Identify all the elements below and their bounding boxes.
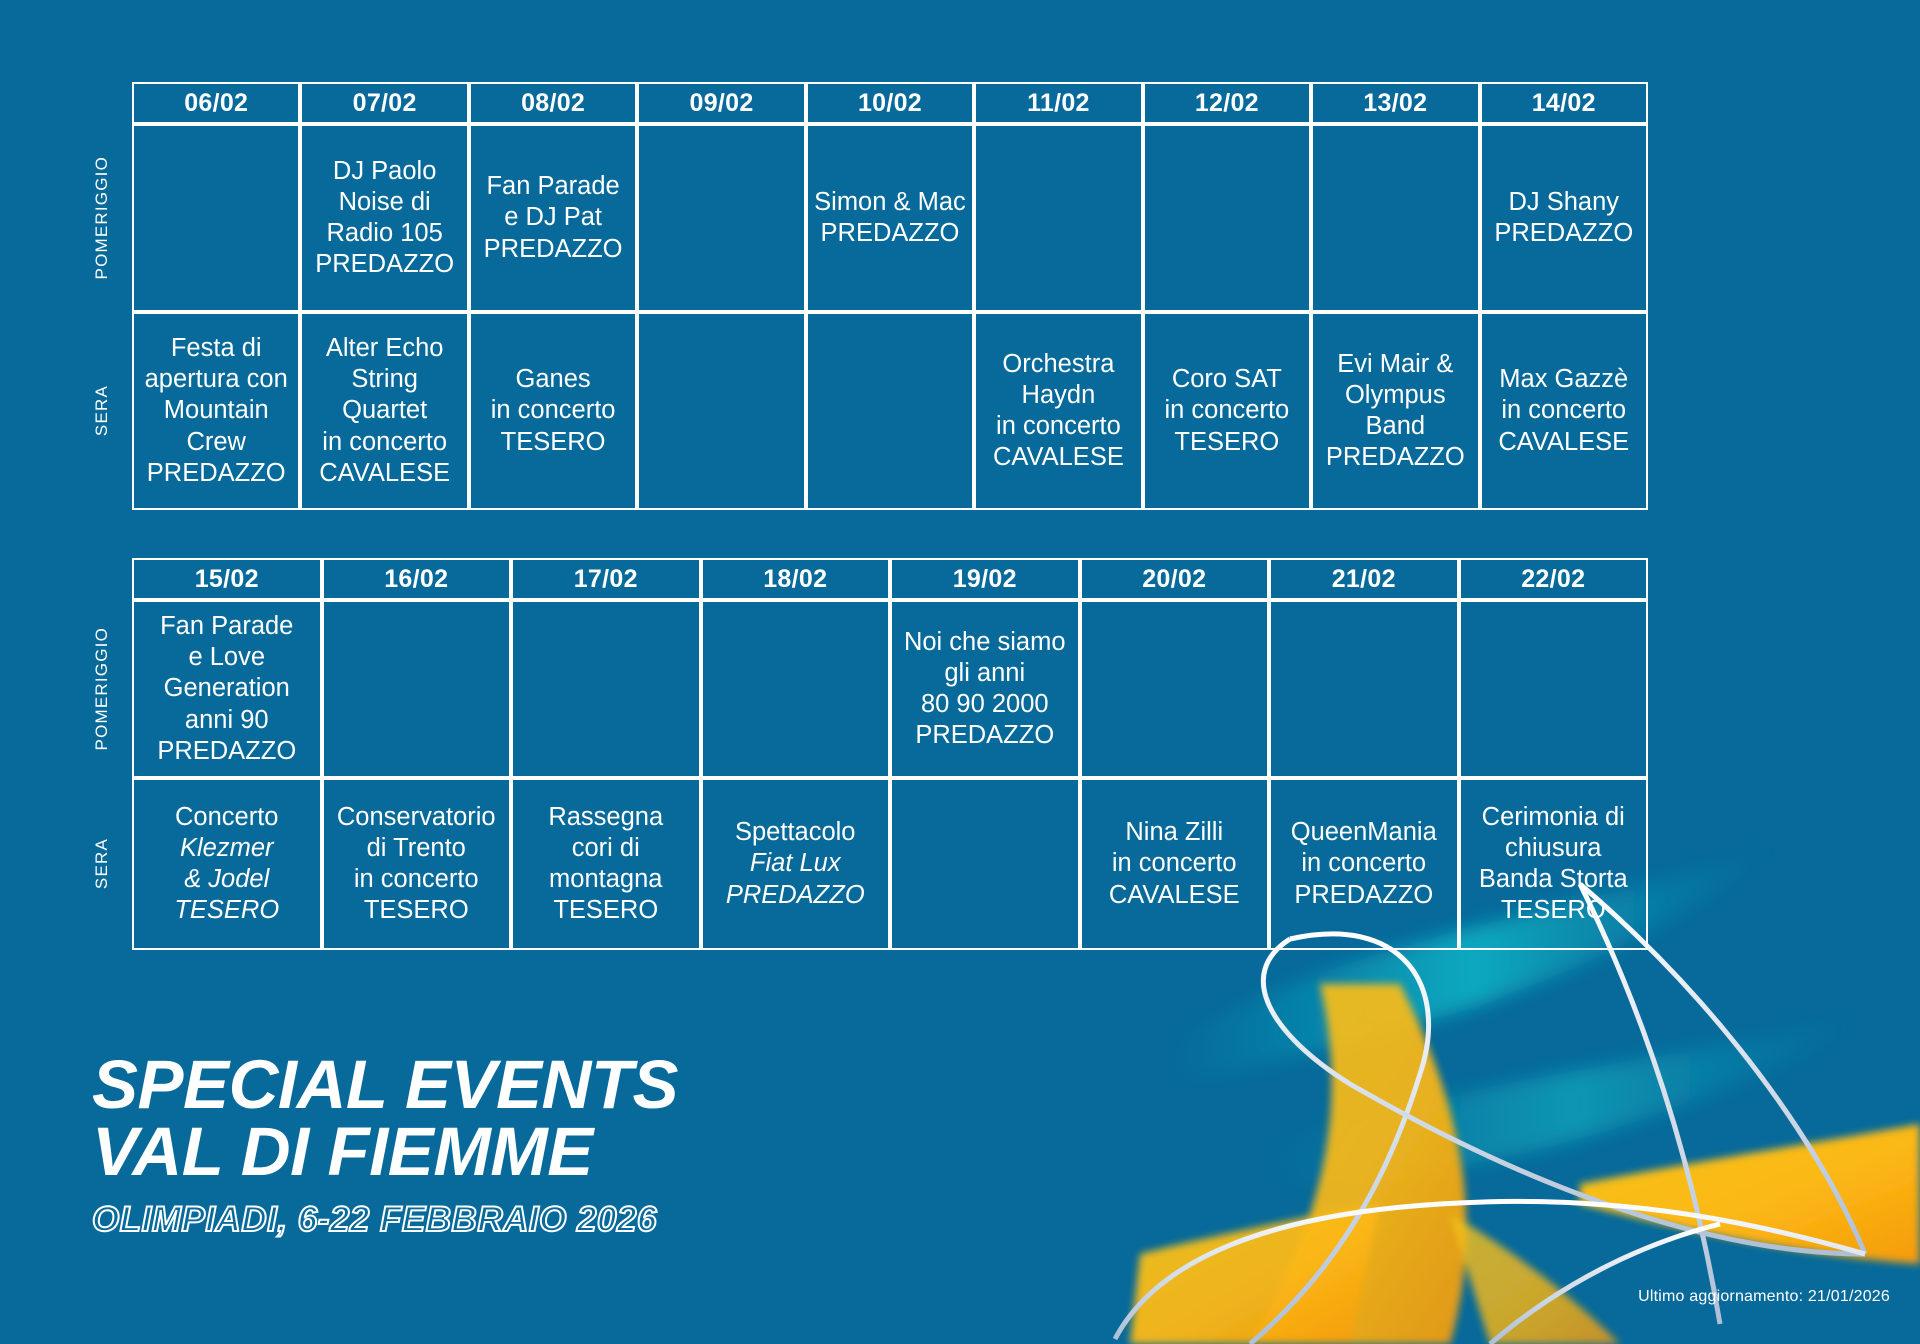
event-line: montagna xyxy=(519,864,693,895)
date-header: 09/02 xyxy=(637,82,805,124)
event-line: Fiat Lux xyxy=(709,848,883,879)
event-line: gli anni xyxy=(898,658,1072,689)
row-label-text: SERA xyxy=(92,838,113,889)
event-line: Mountain xyxy=(140,395,292,426)
event-line: Banda Storta xyxy=(1467,864,1641,895)
event-line: Fan Parade xyxy=(477,171,629,202)
event-line: in concerto xyxy=(1488,395,1641,426)
event-line: Conservatorio xyxy=(330,802,504,833)
event-line: Nina Zilli xyxy=(1088,817,1262,848)
date-header: 12/02 xyxy=(1143,82,1311,124)
title-block: SPECIAL EVENTS VAL DI FIEMME OLIMPIADI, … xyxy=(92,1052,678,1240)
event-line: Haydn xyxy=(982,380,1134,411)
event-line: Simon & Mac xyxy=(814,187,966,218)
event-line: PREDAZZO xyxy=(140,736,314,767)
row-label-pomeriggio: POMERIGGIO xyxy=(92,600,132,778)
table-body: POMERIGGIO Fan Paradee LoveGenerationann… xyxy=(92,600,1648,950)
event-cell[interactable]: DJ ShanyPREDAZZO xyxy=(1480,124,1649,312)
event-line: TESERO xyxy=(330,895,504,926)
event-line: Noise di xyxy=(308,187,460,218)
event-line: Generation xyxy=(140,673,314,704)
event-line: 80 90 2000 xyxy=(898,689,1072,720)
event-line: in concerto xyxy=(982,411,1134,442)
table-row: SERA ConcertoKlezmer& JodelTESERO Conser… xyxy=(92,778,1648,950)
event-line: PREDAZZO xyxy=(477,234,629,265)
row-label-text: POMERIGGIO xyxy=(92,627,113,750)
row-label-sera: SERA xyxy=(92,312,132,510)
event-line: Radio 105 xyxy=(308,218,460,249)
event-cell[interactable]: Max Gazzèin concertoCAVALESE xyxy=(1480,312,1649,510)
event-line: apertura con xyxy=(140,364,292,395)
event-cell[interactable]: Conservatoriodi Trentoin concertoTESERO xyxy=(322,778,512,950)
event-line: TESERO xyxy=(1151,427,1303,458)
event-line: TESERO xyxy=(1467,895,1641,926)
event-cell[interactable] xyxy=(1080,600,1270,778)
event-line: in concerto xyxy=(1277,848,1451,879)
date-header: 19/02 xyxy=(890,558,1080,600)
event-line: in concerto xyxy=(1088,848,1262,879)
event-line: QueenMania xyxy=(1277,817,1451,848)
event-line: Alter Echo xyxy=(308,333,460,364)
event-line: Crew xyxy=(140,427,292,458)
event-cell[interactable]: Festa diapertura conMountainCrewPREDAZZO xyxy=(132,312,300,510)
date-header-row: 06/02 07/02 08/02 09/02 10/02 11/02 12/0… xyxy=(92,82,1648,124)
poster-title-line2: VAL DI FIEMME xyxy=(92,1119,678,1186)
event-line: e DJ Pat xyxy=(477,202,629,233)
event-cell[interactable]: OrchestraHaydnin concertoCAVALESE xyxy=(974,312,1142,510)
event-cell[interactable]: ConcertoKlezmer& JodelTESERO xyxy=(132,778,322,950)
event-line: PREDAZZO xyxy=(1277,880,1451,911)
schedule-table: 15/02 16/02 17/02 18/02 19/02 20/02 21/0… xyxy=(92,558,1648,950)
event-line: Band xyxy=(1319,411,1471,442)
event-cell[interactable] xyxy=(701,600,891,778)
event-line: e Love xyxy=(140,642,314,673)
event-cell[interactable] xyxy=(637,312,805,510)
event-cell[interactable]: Fan Paradee LoveGenerationanni 90PREDAZZ… xyxy=(132,600,322,778)
corner-spacer xyxy=(92,558,132,600)
date-header: 20/02 xyxy=(1080,558,1270,600)
event-line: Concerto xyxy=(140,802,314,833)
table-row: POMERIGGIO DJ PaoloNoise diRadio 105PRED… xyxy=(92,124,1648,312)
event-cell[interactable] xyxy=(1311,124,1479,312)
poster-subtitle: OLIMPIADI, 6-22 FEBBRAIO 2026 xyxy=(92,1200,678,1240)
table-head: 15/02 16/02 17/02 18/02 19/02 20/02 21/0… xyxy=(92,558,1648,600)
row-label-text: POMERIGGIO xyxy=(92,156,113,279)
row-label-text: SERA xyxy=(92,385,113,436)
event-line: & Jodel xyxy=(140,864,314,895)
event-cell[interactable] xyxy=(1143,124,1311,312)
row-label-sera: SERA xyxy=(92,778,132,950)
event-line: di Trento xyxy=(330,833,504,864)
event-cell[interactable]: DJ PaoloNoise diRadio 105PREDAZZO xyxy=(300,124,468,312)
event-line: TESERO xyxy=(477,427,629,458)
event-cell[interactable]: Cerimonia dichiusuraBanda StortaTESERO xyxy=(1459,778,1649,950)
event-line: Evi Mair & xyxy=(1319,349,1471,380)
event-line: PREDAZZO xyxy=(308,249,460,280)
event-cell[interactable]: Ganesin concertoTESERO xyxy=(469,312,637,510)
event-line: Ganes xyxy=(477,364,629,395)
event-line: Orchestra xyxy=(982,349,1134,380)
event-line: chiusura xyxy=(1467,833,1641,864)
date-header-row: 15/02 16/02 17/02 18/02 19/02 20/02 21/0… xyxy=(92,558,1648,600)
event-cell[interactable] xyxy=(806,312,974,510)
poster-title-line1: SPECIAL EVENTS xyxy=(92,1052,678,1119)
event-line: CAVALESE xyxy=(1088,880,1262,911)
schedule-table-first-half: 06/02 07/02 08/02 09/02 10/02 11/02 12/0… xyxy=(92,82,1648,510)
date-header: 15/02 xyxy=(132,558,322,600)
event-line: in concerto xyxy=(330,864,504,895)
date-header: 21/02 xyxy=(1269,558,1459,600)
event-line: in concerto xyxy=(1151,395,1303,426)
event-line: in concerto xyxy=(477,395,629,426)
event-line: PREDAZZO xyxy=(140,458,292,489)
event-line: PREDAZZO xyxy=(898,720,1072,751)
event-line: Olympus xyxy=(1319,380,1471,411)
date-header: 16/02 xyxy=(322,558,512,600)
event-line: Cerimonia di xyxy=(1467,802,1641,833)
date-header: 14/02 xyxy=(1480,82,1649,124)
event-line: Noi che siamo xyxy=(898,627,1072,658)
date-header: 22/02 xyxy=(1459,558,1649,600)
corner-spacer xyxy=(92,82,132,124)
event-cell[interactable]: Alter EchoStringQuartetin concertoCAVALE… xyxy=(300,312,468,510)
date-header: 13/02 xyxy=(1311,82,1479,124)
event-cell[interactable] xyxy=(974,124,1142,312)
event-cell[interactable] xyxy=(890,778,1080,950)
date-header: 17/02 xyxy=(511,558,701,600)
event-line: Spettacolo xyxy=(709,817,883,848)
event-cell[interactable]: Rassegnacori dimontagnaTESERO xyxy=(511,778,701,950)
event-line: TESERO xyxy=(140,895,314,926)
event-line: DJ Shany xyxy=(1488,187,1641,218)
event-line: Quartet xyxy=(308,395,460,426)
event-cell[interactable] xyxy=(1459,600,1649,778)
date-header: 06/02 xyxy=(132,82,300,124)
event-line: anni 90 xyxy=(140,705,314,736)
table-row: POMERIGGIO Fan Paradee LoveGenerationann… xyxy=(92,600,1648,778)
date-header: 11/02 xyxy=(974,82,1142,124)
event-cell[interactable] xyxy=(1269,600,1459,778)
event-cell[interactable]: Coro SATin concertoTESERO xyxy=(1143,312,1311,510)
event-line: PREDAZZO xyxy=(1319,442,1471,473)
row-label-pomeriggio: POMERIGGIO xyxy=(92,124,132,312)
event-line: DJ Paolo xyxy=(308,156,460,187)
event-cell[interactable] xyxy=(322,600,512,778)
date-header: 08/02 xyxy=(469,82,637,124)
event-cell[interactable] xyxy=(511,600,701,778)
table-body: POMERIGGIO DJ PaoloNoise diRadio 105PRED… xyxy=(92,124,1648,510)
last-update-footnote: Ultimo aggiornamento: 21/01/2026 xyxy=(1638,1288,1890,1306)
event-line: PREDAZZO xyxy=(814,218,966,249)
event-line: String xyxy=(308,364,460,395)
event-line: Klezmer xyxy=(140,833,314,864)
event-line: TESERO xyxy=(519,895,693,926)
event-line: Coro SAT xyxy=(1151,364,1303,395)
event-line: PREDAZZO xyxy=(1488,218,1641,249)
schedule-table-second-half: 15/02 16/02 17/02 18/02 19/02 20/02 21/0… xyxy=(92,558,1648,950)
table-head: 06/02 07/02 08/02 09/02 10/02 11/02 12/0… xyxy=(92,82,1648,124)
event-cell[interactable] xyxy=(637,124,805,312)
event-line: in concerto xyxy=(308,427,460,458)
event-line: cori di xyxy=(519,833,693,864)
schedule-table: 06/02 07/02 08/02 09/02 10/02 11/02 12/0… xyxy=(92,82,1648,510)
event-cell[interactable] xyxy=(132,124,300,312)
event-cell[interactable]: Noi che siamogli anni80 90 2000PREDAZZO xyxy=(890,600,1080,778)
event-cell[interactable]: SpettacoloFiat LuxPREDAZZO xyxy=(701,778,891,950)
event-cell[interactable]: QueenManiain concertoPREDAZZO xyxy=(1269,778,1459,950)
event-cell[interactable]: Nina Zilliin concertoCAVALESE xyxy=(1080,778,1270,950)
event-cell[interactable]: Simon & MacPREDAZZO xyxy=(806,124,974,312)
event-line: CAVALESE xyxy=(982,442,1134,473)
event-line: Max Gazzè xyxy=(1488,364,1641,395)
event-line: PREDAZZO xyxy=(709,880,883,911)
event-line: Rassegna xyxy=(519,802,693,833)
event-cell[interactable]: Fan Paradee DJ PatPREDAZZO xyxy=(469,124,637,312)
event-line: Festa di xyxy=(140,333,292,364)
event-cell[interactable]: Evi Mair &OlympusBandPREDAZZO xyxy=(1311,312,1479,510)
table-row: SERA Festa diapertura conMountainCrewPRE… xyxy=(92,312,1648,510)
event-line: CAVALESE xyxy=(1488,427,1641,458)
date-header: 18/02 xyxy=(701,558,891,600)
date-header: 10/02 xyxy=(806,82,974,124)
date-header: 07/02 xyxy=(300,82,468,124)
event-line: Fan Parade xyxy=(140,611,314,642)
event-line: CAVALESE xyxy=(308,458,460,489)
